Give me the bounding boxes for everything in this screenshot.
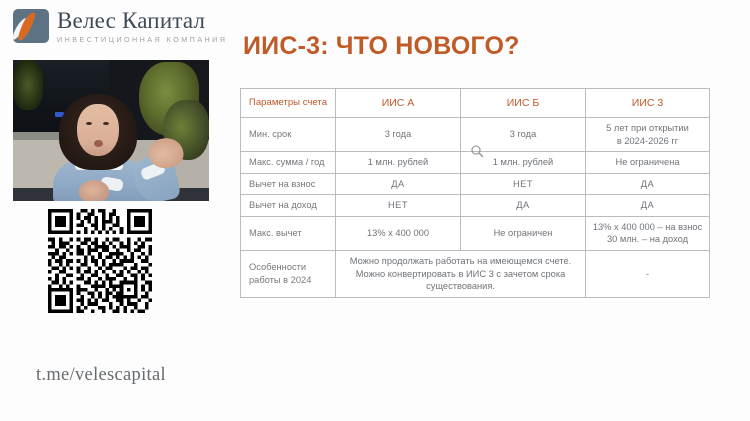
telegram-handle: t.me/velescapital [36, 365, 166, 386]
cell-income-deduction-a: НЕТ [336, 195, 461, 217]
table-row: Особенности работы в 2024 Можно продолжа… [241, 251, 710, 298]
page-title: ИИС-3: ЧТО НОВОГО? [243, 32, 520, 61]
table-row: Вычет на доход НЕТ ДА ДА [241, 195, 710, 217]
row-label-features-2024: Особенности работы в 2024 [241, 251, 336, 298]
velesh-swoosh-logo-icon [13, 9, 49, 43]
brand-logo-text: Велес Капитал инвестиционная компания [57, 9, 227, 43]
video-plant-left [13, 60, 43, 110]
table-header-row: Параметры счета ИИС А ИИС Б ИИС 3 [241, 89, 710, 118]
table-row: Макс. вычет 13% х 400 000 Не ограничен 1… [241, 216, 710, 250]
cell-contribution-deduction-b: НЕТ [461, 173, 586, 195]
cell-min-term-a: 3 года [336, 118, 461, 152]
video-presenter-mouth [94, 140, 103, 147]
qr-code[interactable] [48, 209, 152, 313]
brand-tagline: инвестиционная компания [57, 36, 227, 43]
video-presenter-face [77, 104, 119, 156]
table-row: Вычет на взнос ДА НЕТ ДА [241, 173, 710, 195]
cell-income-deduction-b: ДА [461, 195, 586, 217]
cell-max-deduction-a: 13% х 400 000 [336, 216, 461, 250]
cell-max-deduction-b: Не ограничен [461, 216, 586, 250]
column-header-iis-a: ИИС А [336, 89, 461, 118]
video-presenter-eye-right [103, 122, 109, 125]
brand-name: Велес Капитал [57, 9, 227, 32]
row-label-min-term: Мин. срок [241, 118, 336, 152]
row-label-max-amount: Макс. сумма / год [241, 152, 336, 174]
cell-contribution-deduction-c: ДА [586, 173, 710, 195]
qr-code-image [48, 209, 152, 313]
cell-income-deduction-c: ДА [586, 195, 710, 217]
column-header-iis-3: ИИС 3 [586, 89, 710, 118]
account-comparison-table: Параметры счета ИИС А ИИС Б ИИС 3 Мин. с… [240, 88, 710, 298]
column-header-iis-b: ИИС Б [461, 89, 586, 118]
presenter-webcam-video[interactable] [13, 60, 209, 201]
video-presenter-eye-left [86, 122, 92, 125]
cell-features-2024-c: - [586, 251, 710, 298]
cell-min-term-c: 5 лет при открытии в 2024-2026 гг [586, 118, 710, 152]
mouse-pointer-icon [471, 145, 484, 158]
row-label-contribution-deduction: Вычет на взнос [241, 173, 336, 195]
cell-max-deduction-c: 13% х 400 000 – на взнос 30 млн. – на до… [586, 216, 710, 250]
cell-features-2024-merged: Можно продолжать работать на имеющемся с… [336, 251, 586, 298]
cell-contribution-deduction-a: ДА [336, 173, 461, 195]
column-header-params: Параметры счета [241, 89, 336, 118]
row-label-max-deduction: Макс. вычет [241, 216, 336, 250]
cell-max-amount-c: Не ограничена [586, 152, 710, 174]
video-presenter-hand-left [79, 180, 109, 201]
cell-max-amount-a: 1 млн. рублей [336, 152, 461, 174]
brand-logo: Велес Капитал инвестиционная компания [13, 9, 227, 43]
row-label-income-deduction: Вычет на доход [241, 195, 336, 217]
